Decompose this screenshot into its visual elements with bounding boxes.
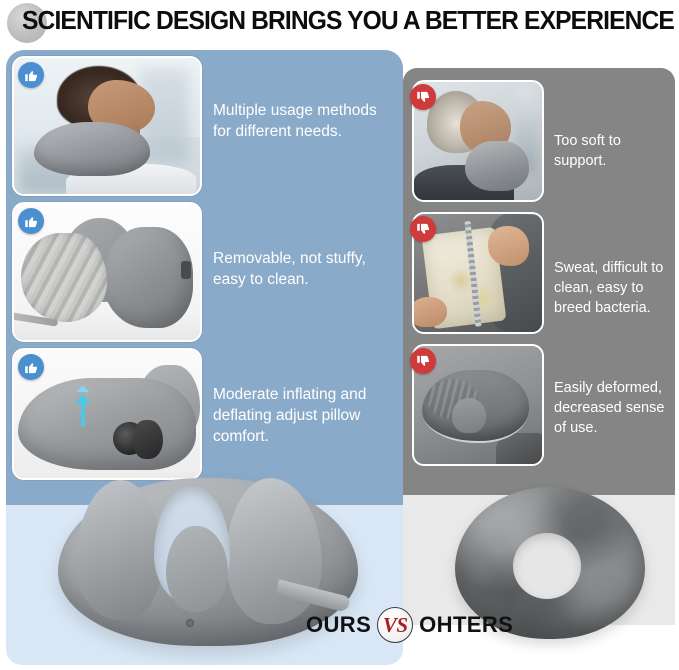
ours-feature-caption-3: Moderate inflating and deflating adjust … [213,384,393,447]
others-feature-caption-1: Too soft to support. [554,131,672,171]
comparison-row: OURS VS OHTERS [306,608,513,642]
others-feature-caption-2: Sweat, difficult to clean, easy to breed… [554,258,676,318]
infographic-canvas: SCIENTIFIC DESIGN BRINGS YOU A BETTER EX… [0,0,679,670]
thumbs-up-icon-3 [18,354,44,380]
others-label: OHTERS [419,612,513,638]
vs-badge-icon: VS [377,607,413,643]
ours-feature-caption-2: Removable, not stuffy, easy to clean. [213,248,393,290]
thumbs-down-icon-3 [410,348,436,374]
thumbs-down-icon-1 [410,84,436,110]
inflate-arrow-icon [75,386,90,427]
ours-label: OURS [306,612,371,638]
vs-label: VS [383,615,408,636]
thumbs-up-icon-1 [18,62,44,88]
ours-feature-caption-1: Multiple usage methods for different nee… [213,100,393,142]
page-title: SCIENTIFIC DESIGN BRINGS YOU A BETTER EX… [0,0,679,44]
page-title-text: SCIENTIFIC DESIGN BRINGS YOU A BETTER EX… [22,4,674,38]
thumbs-up-icon-2 [18,208,44,234]
others-feature-caption-3: Easily deformed, decreased sense of use. [554,378,676,438]
thumbs-down-icon-2 [410,216,436,242]
